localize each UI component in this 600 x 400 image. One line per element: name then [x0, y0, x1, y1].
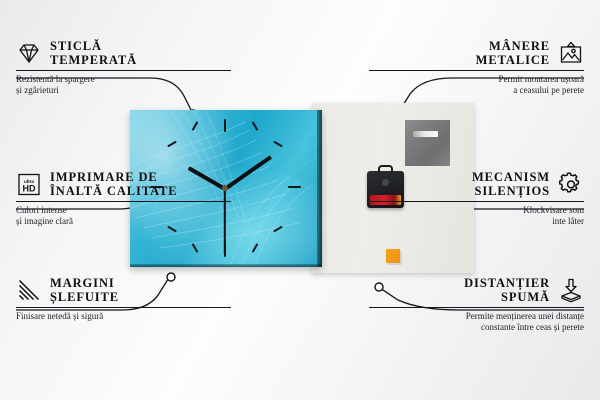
callout-distantier-spuma[interactable]: DISTANȚIER SPUMĂ Permite menținerea unei… — [369, 277, 584, 333]
callout-rule — [369, 70, 584, 71]
ultra-hd-badge-icon: ultra HD — [16, 172, 42, 197]
callout-title-line2: SPUMĂ — [369, 291, 550, 305]
tick-mark — [288, 186, 301, 188]
callout-manere-metalice[interactable]: MÂNERE METALICE Permit montarea ușoară a… — [369, 40, 584, 96]
foam-spacer-arrow-icon — [558, 278, 584, 303]
callout-header: MECANISM SILENȚIOS — [369, 171, 584, 198]
callout-title-line1: DISTANȚIER — [369, 277, 550, 291]
callout-title: DISTANȚIER SPUMĂ — [369, 277, 550, 304]
callout-margini-slefuite[interactable]: MARGINI ȘLEFUITE Finisare netedă și sigu… — [16, 277, 231, 322]
callout-title: MECANISM SILENȚIOS — [369, 171, 550, 198]
callout-desc-line2: și zgârieturi — [16, 85, 231, 96]
infographic-stage: STICLĂ TEMPERATĂ Rezistentă la spargere … — [0, 0, 600, 400]
callout-rule — [16, 70, 231, 71]
callout-desc-line1: Permit montarea ușoară — [369, 74, 584, 85]
callout-title: STICLĂ TEMPERATĂ — [50, 40, 137, 67]
callout-header: DISTANȚIER SPUMĂ — [369, 277, 584, 304]
callout-desc-line2: inte låter — [369, 216, 584, 227]
callout-title-line1: STICLĂ — [50, 40, 137, 54]
callout-desc-line1: Rezistentă la spargere — [16, 74, 231, 85]
gear-icon — [558, 172, 584, 197]
clock-bottom-edge — [130, 264, 322, 267]
callout-rule — [369, 307, 584, 308]
callout-rule — [16, 201, 231, 202]
callout-desc: Rezistentă la spargere și zgârieturi — [16, 74, 231, 96]
callout-desc-line1: Culori intense — [16, 205, 231, 216]
callout-desc-line1: Finisare netedă și sigură — [16, 311, 231, 322]
metal-hanger — [405, 120, 450, 166]
callout-desc-line2: constante între ceas și perete — [369, 322, 584, 333]
callout-header: STICLĂ TEMPERATĂ — [16, 40, 231, 67]
callout-header: MÂNERE METALICE — [369, 40, 584, 67]
callout-title-line2: ȘLEFUITE — [50, 291, 119, 305]
callout-sticla-temperata[interactable]: STICLĂ TEMPERATĂ Rezistentă la spargere … — [16, 40, 231, 96]
callout-title-line2: ÎNALTĂ CALITATE — [50, 185, 178, 199]
hanging-frame-icon — [558, 41, 584, 66]
callout-title-line1: IMPRIMARE DE — [50, 171, 178, 185]
callout-title: MARGINI ȘLEFUITE — [50, 277, 119, 304]
callout-desc-line2: a ceasului pe perete — [369, 85, 584, 96]
callout-title-line1: MECANISM — [369, 171, 550, 185]
foam-spacer — [386, 249, 400, 263]
callout-title: IMPRIMARE DE ÎNALTĂ CALITATE — [50, 171, 178, 198]
diamond-icon — [16, 41, 42, 66]
callout-header: MARGINI ȘLEFUITE — [16, 277, 231, 304]
callout-desc: Klockvisare som inte låter — [369, 205, 584, 227]
callout-desc: Permite menținerea unei distanțe constan… — [369, 311, 584, 333]
clock-right-edge — [317, 110, 322, 267]
callout-mecanism-silentios[interactable]: MECANISM SILENȚIOS Klockvisare som inte … — [369, 171, 584, 227]
callout-title-line2: TEMPERATĂ — [50, 54, 137, 68]
tick-mark — [224, 119, 226, 132]
callout-imprimare-hd[interactable]: ultra HD IMPRIMARE DE ÎNALTĂ CALITATE Cu… — [16, 171, 231, 227]
callout-desc: Finisare netedă și sigură — [16, 311, 231, 322]
polished-edge-icon — [16, 278, 42, 303]
callout-desc-line1: Permite menținerea unei distanțe — [369, 311, 584, 322]
callout-rule — [16, 307, 231, 308]
hanger-slot — [413, 131, 438, 137]
callout-desc: Permit montarea ușoară a ceasului pe per… — [369, 74, 584, 96]
callout-title: MÂNERE METALICE — [369, 40, 550, 67]
callout-title-line1: MÂNERE — [369, 40, 550, 54]
callout-header: ultra HD IMPRIMARE DE ÎNALTĂ CALITATE — [16, 171, 231, 198]
callout-rule — [369, 201, 584, 202]
callout-desc-line2: și imagine clară — [16, 216, 231, 227]
callout-desc-line1: Klockvisare som — [369, 205, 584, 216]
callout-title-line2: SILENȚIOS — [369, 185, 550, 199]
callout-title-line2: METALICE — [369, 54, 550, 68]
svg-text:HD: HD — [23, 184, 36, 194]
callout-desc: Culori intense și imagine clară — [16, 205, 231, 227]
callout-title-line1: MARGINI — [50, 277, 119, 291]
